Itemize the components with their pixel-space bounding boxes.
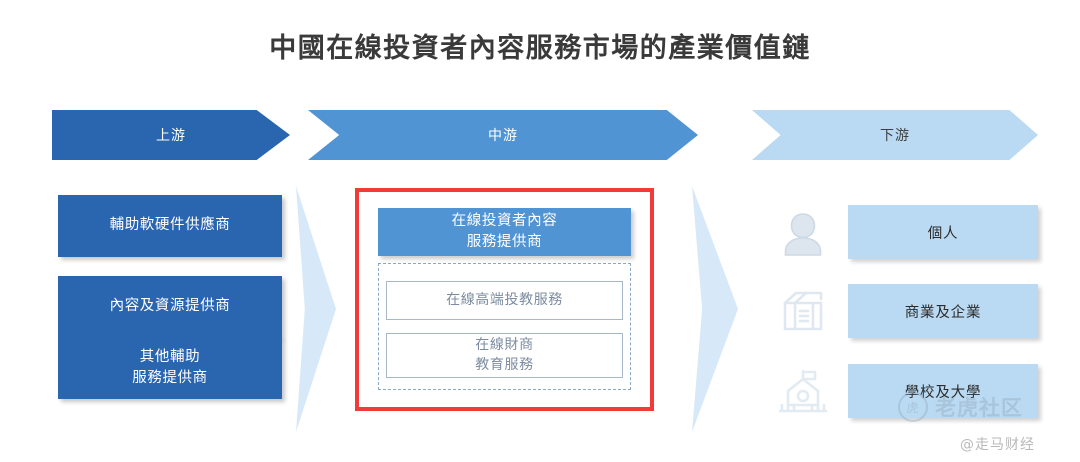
stage-label-downstream: 下游	[880, 125, 910, 145]
upstream-item-1: 內容及資源提供商	[58, 276, 282, 338]
upstream-item-2: 其他輔助服務提供商	[58, 337, 282, 399]
downstream-label-2: 學校及大學	[848, 364, 1038, 418]
watermark-zouma: @走马财经	[960, 434, 1035, 454]
school-building-icon	[772, 360, 834, 422]
downstream-row-2: 學校及大學	[772, 360, 1038, 422]
downstream-row-0: 個人	[772, 201, 1038, 263]
stage-chevron-upstream: 上游	[52, 110, 290, 160]
downstream-row-1: 商業及企業	[772, 280, 1038, 342]
person-icon	[772, 201, 834, 263]
office-building-icon	[772, 280, 834, 342]
midstream-subitem-0: 在線高端投教服務	[386, 281, 623, 320]
stage-chevron-midstream: 中游	[308, 110, 698, 160]
stage-label-upstream: 上游	[156, 125, 186, 145]
midstream-subitem-1: 在線財商教育服務	[386, 333, 623, 378]
stage-band: 上游 中游 下游	[0, 110, 1080, 160]
page-title: 中國在線投資者內容服務市場的產業價值鏈	[0, 26, 1080, 65]
downstream-label-0: 個人	[848, 205, 1038, 259]
midstream-header-box: 在線投資者內容服務提供商	[378, 208, 631, 256]
flow-connector-upstream-to-midstream	[296, 186, 336, 432]
downstream-label-1: 商業及企業	[848, 284, 1038, 338]
stage-chevron-downstream: 下游	[752, 110, 1038, 160]
flow-connector-midstream-to-downstream	[692, 186, 738, 432]
stage-label-midstream: 中游	[488, 125, 518, 145]
upstream-item-0: 輔助軟硬件供應商	[58, 195, 282, 257]
